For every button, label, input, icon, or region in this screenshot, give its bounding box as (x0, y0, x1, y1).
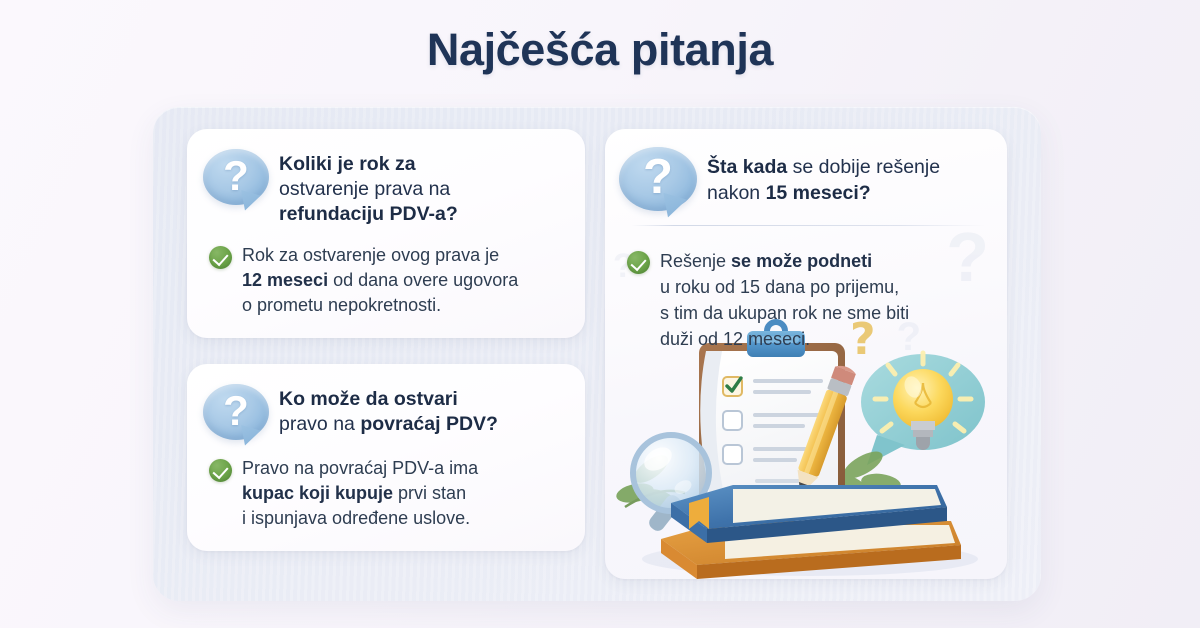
faq-card-3-header: ? Šta kada se dobije rešenje nakon 15 me… (619, 145, 991, 211)
faq-card-1[interactable]: ? Koliki je rok za ostvarenje prava na r… (187, 129, 585, 338)
faq-card-2-answer-text: Pravo na povraćaj PDV-a ima kupac koji k… (242, 456, 478, 531)
faq-card-3[interactable]: ? ? ? ? ? Šta kada se dobije rešenje nak… (605, 129, 1007, 579)
faq-card-1-answer-text: Rok za ostvarenje ovog prava je 12 mesec… (242, 243, 518, 318)
q2-line1: Ko može da ostvari (279, 388, 458, 410)
faq-card-2-question: Ko može da ostvari pravo na povraćaj PDV… (279, 382, 498, 437)
a3-line4: duži od 12 meseci. (660, 329, 810, 349)
faq-card-3-answer: Rešenje se može podneti u roku od 15 dan… (619, 248, 991, 352)
a3-line1-pre: Rešenje (660, 251, 726, 271)
a3-line3: s tim da ukupan rok ne sme biti (660, 303, 909, 323)
q3-line1-rest: se dobije rešenje (787, 156, 940, 178)
faq-card-2-answer: Pravo na povraćaj PDV-a ima kupac koji k… (203, 456, 565, 531)
green-check-circle-icon (209, 246, 232, 269)
a2-line3: i ispunjava određene uslove. (242, 508, 470, 528)
q1-line3: refundaciju PDV-a? (279, 203, 458, 225)
question-speech-bubble-icon: ? (619, 147, 697, 211)
a3-line1-bold: se može podneti (726, 251, 872, 271)
question-mark-glyph: ? (203, 149, 269, 205)
a1-line2-rest: od dana overe ugovora (328, 270, 518, 290)
question-speech-bubble-icon: ? (203, 384, 269, 440)
faq-right-column: ? ? ? ? ? Šta kada se dobije rešenje nak… (605, 129, 1007, 579)
pencil (790, 363, 857, 498)
faq-card-1-question: Koliki je rok za ostvarenje prava na ref… (279, 147, 458, 227)
faq-card-3-answer-text: Rešenje se može podneti u roku od 15 dan… (660, 248, 909, 352)
faq-card-2-header: ? Ko može da ostvari pravo na povraćaj P… (203, 382, 565, 440)
faq-card-3-question: Šta kada se dobije rešenje nakon 15 mese… (707, 145, 940, 206)
a1-line2-bold: 12 meseci (242, 270, 328, 290)
header-divider (631, 225, 985, 226)
q3-line2-pre: nakon (707, 182, 766, 204)
green-check-circle-icon (627, 251, 650, 274)
page-title: Najčešća pitanja (0, 21, 1200, 79)
green-check-circle-icon (209, 459, 232, 482)
faq-panel: ? Koliki je rok za ostvarenje prava na r… (153, 107, 1041, 601)
a2-line1: Pravo na povraćaj PDV-a ima (242, 458, 478, 478)
q1-line2: ostvarenje prava na (279, 178, 450, 200)
a1-line3: o prometu nepokretnosti. (242, 295, 441, 315)
a1-line1: Rok za ostvarenje ovog prava je (242, 245, 499, 265)
faq-card-2[interactable]: ? Ko može da ostvari pravo na povraćaj P… (187, 364, 585, 551)
lightbulb-bubble (861, 353, 985, 465)
a3-line2: u roku od 15 dana po prijemu, (660, 277, 899, 297)
question-mark-glyph: ? (619, 147, 697, 211)
faq-card-1-answer: Rok za ostvarenje ovog prava je 12 mesec… (203, 243, 565, 318)
question-speech-bubble-icon: ? (203, 149, 269, 205)
a2-line2-rest: prvi stan (393, 483, 466, 503)
book-stack (661, 485, 961, 579)
faq-left-column: ? Koliki je rok za ostvarenje prava na r… (187, 129, 585, 551)
q3-line1-bold: Šta kada (707, 156, 787, 178)
faq-card-1-header: ? Koliki je rok za ostvarenje prava na r… (203, 147, 565, 227)
q2-line2-pre: pravo na (279, 413, 360, 435)
question-mark-glyph: ? (203, 384, 269, 440)
magnifying-glass (633, 435, 709, 534)
q2-line2-bold: povraćaj PDV? (360, 413, 498, 435)
q1-line1: Koliki je rok za (279, 153, 416, 175)
a2-line2-bold: kupac koji kupuje (242, 483, 393, 503)
q3-line2-bold: 15 meseci? (766, 182, 871, 204)
